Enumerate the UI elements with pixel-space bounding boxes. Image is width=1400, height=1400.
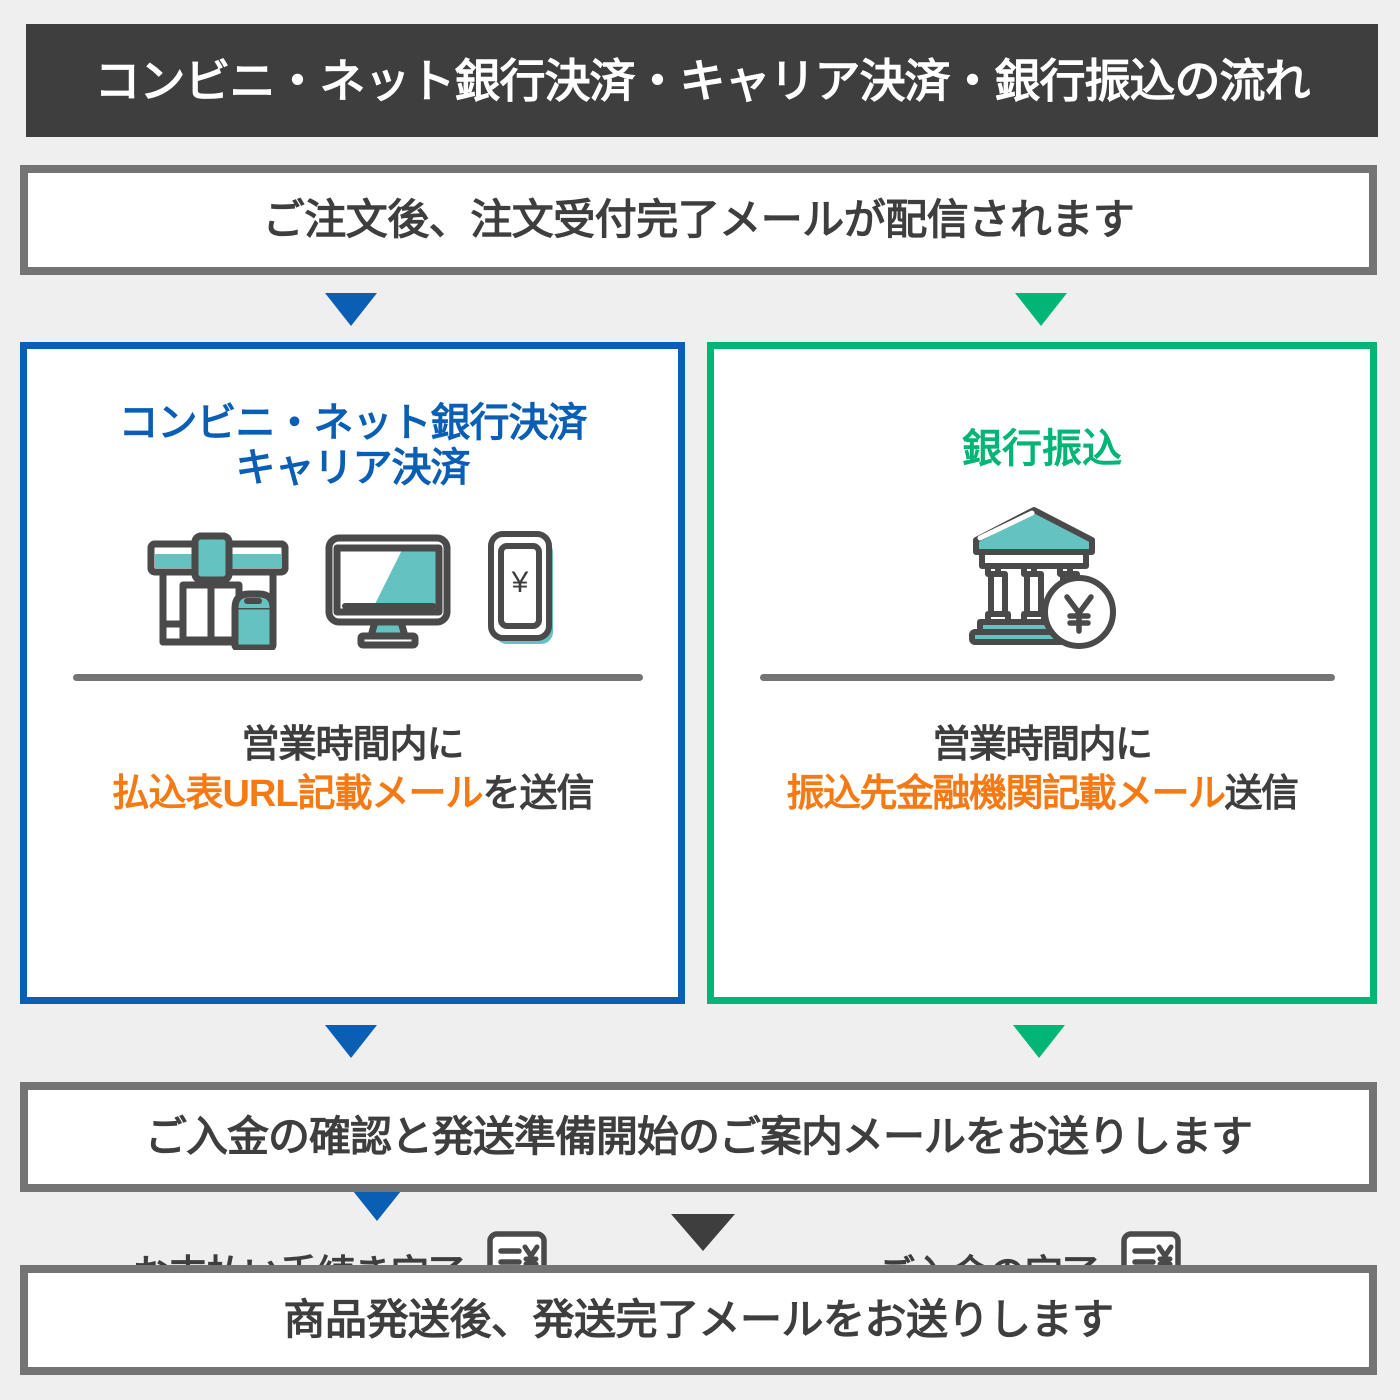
step-payment-confirmed-label: ご入金の確認と発送準備開始のご案内メールをお送りします <box>145 1116 1252 1158</box>
diagram-title-bar: コンビニ・ネット銀行決済・キャリア決済・銀行振込の流れ <box>26 24 1378 137</box>
panel-konbini-heading: コンビニ・ネット銀行決済 キャリア決済 <box>27 401 678 491</box>
down-arrow-icon-to-shipped <box>671 1214 735 1251</box>
panel-furikomi-note-tail: 送信 <box>1225 773 1298 815</box>
panel-furikomi-divider <box>760 674 1335 681</box>
panel-konbini-note: 営業時間内に 払込表URL記載メールを送信 <box>27 721 678 818</box>
down-arrow-icon-to-furikomi <box>1015 293 1067 326</box>
panel-konbini-divider <box>73 674 643 681</box>
down-arrow-icon-konbini-to-confirm <box>325 1025 377 1058</box>
panel-konbini-note-line1: 営業時間内に <box>27 721 678 770</box>
panel-furikomi-note-line1: 営業時間内に <box>714 721 1370 770</box>
panel-konbini-note-tail: を送信 <box>483 773 594 815</box>
payment-flow-diagram: コンビニ・ネット銀行決済・キャリア決済・銀行振込の流れ ご注文後、注文受付完了メ… <box>0 0 1400 1400</box>
panel-furikomi-note-emphasis: 振込先金融機関記載メール <box>786 773 1224 815</box>
down-arrow-icon-furikomi-to-confirm <box>1013 1025 1065 1058</box>
panel-bank-transfer: 銀行振込 <box>707 342 1377 1004</box>
convenience-store-icon <box>143 530 293 655</box>
smartphone-yen-icon: ¥ <box>483 530 563 655</box>
page-title: コンビニ・ネット銀行決済・キャリア決済・銀行振込の流れ <box>95 58 1310 104</box>
step-order-received-label: ご注文後、注文受付完了メールが配信されます <box>263 199 1135 241</box>
desktop-monitor-icon <box>323 532 453 655</box>
panel-konbini-note-emphasis: 払込表URL記載メール <box>111 773 482 815</box>
panel-konbini-icon-row: ¥ <box>27 525 678 655</box>
step-shipped-label: 商品発送後、発送完了メールをお送りします <box>283 1299 1113 1341</box>
panel-konbini-heading-line2: キャリア決済 <box>27 446 678 491</box>
panel-konbini-heading-line1: コンビニ・ネット銀行決済 <box>119 401 587 445</box>
bank-building-yen-icon <box>962 504 1122 659</box>
panel-furikomi-icon-row <box>714 499 1370 659</box>
down-arrow-icon-konbini-inner <box>353 1191 401 1221</box>
panel-furikomi-heading: 銀行振込 <box>714 427 1370 472</box>
step-shipped: 商品発送後、発送完了メールをお送りします <box>20 1265 1377 1375</box>
panel-furikomi-note-line2: 振込先金融機関記載メール送信 <box>714 770 1370 819</box>
svg-text:¥: ¥ <box>510 566 528 599</box>
panel-furikomi-note: 営業時間内に 振込先金融機関記載メール送信 <box>714 721 1370 818</box>
step-order-received: ご注文後、注文受付完了メールが配信されます <box>20 165 1377 275</box>
panel-furikomi-heading-line1: 銀行振込 <box>962 427 1122 471</box>
panel-konbini-note-line2: 払込表URL記載メールを送信 <box>27 770 678 819</box>
panel-konbini-net-bank-carrier: コンビニ・ネット銀行決済 キャリア決済 <box>20 342 685 1004</box>
down-arrow-icon-to-konbini <box>325 293 377 326</box>
step-payment-confirmed: ご入金の確認と発送準備開始のご案内メールをお送りします <box>20 1082 1377 1192</box>
